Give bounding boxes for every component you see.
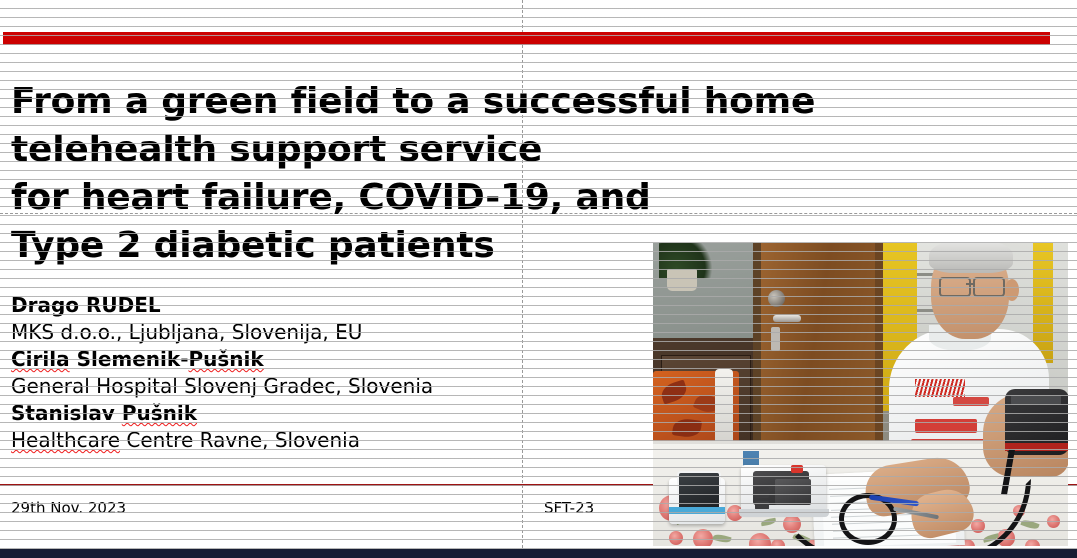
author-affiliation: General Hospital Slovenj Gradec, Sloveni… <box>11 372 631 400</box>
photo-rose-motif <box>669 531 683 545</box>
photo-patient-ear <box>1005 279 1019 301</box>
photo-monitor-start-button <box>791 465 803 473</box>
author-entry: Stanislav Pušnik Healthcare Centre Ravne… <box>11 400 631 454</box>
text-run: MKS d.o.o., Ljubljana, Slovenija, EU <box>11 320 362 344</box>
patient-telehealth-photo <box>653 243 1068 546</box>
misspelled-word: Cirila <box>11 347 70 371</box>
footer-code: SFT-23 <box>544 499 594 517</box>
author-list: Drago RUDEL MKS d.o.o., Ljubljana, Slove… <box>11 292 631 454</box>
footer-date: 29th Nov. 2023 <box>11 499 126 517</box>
bottom-accent-bar <box>0 549 1077 558</box>
text-run: General Hospital Slovenj Gradec, Sloveni… <box>11 374 433 398</box>
author-entry: Cirila Slemenik-Pušnik General Hospital … <box>11 346 631 400</box>
photo-shirt-logo <box>915 379 965 397</box>
misspelled-word: Healthcare <box>11 428 120 452</box>
photo-shirt-text <box>915 419 977 433</box>
photo-door <box>761 243 879 461</box>
photo-smartphone <box>677 471 721 511</box>
photo-door-knob <box>768 290 785 307</box>
presentation-slide: From a green field to a successful home … <box>0 0 1077 558</box>
photo-cuff-label <box>1011 395 1061 405</box>
photo-rose-motif <box>771 539 785 546</box>
photo-door-handle <box>773 315 801 322</box>
text-run: Slemenik- <box>70 347 189 371</box>
photo-dock-band <box>669 507 725 514</box>
top-accent-bar <box>3 32 1050 45</box>
author-name: Stanislav Pušnik <box>11 400 631 426</box>
text-run: Stanislav <box>11 401 122 425</box>
photo-rose-motif <box>693 529 713 546</box>
author-name: Cirila Slemenik-Pušnik <box>11 346 631 372</box>
title-line-1: From a green field to a successful home <box>11 78 951 126</box>
photo-monitor-button <box>755 487 769 498</box>
photo-door-lock-plate <box>771 327 780 351</box>
slide-title: From a green field to a successful home … <box>11 78 951 270</box>
author-affiliation: Healthcare Centre Ravne, Slovenia <box>11 426 631 454</box>
photo-glasses-bridge <box>966 283 974 285</box>
photo-patient-hair <box>929 243 1013 273</box>
photo-door-edge <box>875 243 883 461</box>
photo-rose-motif <box>1047 515 1060 528</box>
photo-glasses-lens <box>939 277 971 297</box>
misspelled-word: Pušnik <box>189 347 264 371</box>
misspelled-word: Pušnik <box>122 401 197 425</box>
photo-plant-pot <box>667 269 697 291</box>
photo-shirt-logo <box>953 397 989 406</box>
author-name: Drago RUDEL <box>11 292 631 318</box>
photo-cuff-tube <box>771 479 1031 546</box>
text-run: Drago RUDEL <box>11 293 161 317</box>
author-entry: Drago RUDEL MKS d.o.o., Ljubljana, Slove… <box>11 292 631 346</box>
title-line-3: for heart failure, COVID-19, and <box>11 174 951 222</box>
title-line-2: telehealth support service <box>11 126 951 174</box>
text-run: Centre Ravne, Slovenia <box>120 428 360 452</box>
photo-glasses-lens <box>973 277 1005 297</box>
author-affiliation: MKS d.o.o., Ljubljana, Slovenija, EU <box>11 318 631 346</box>
